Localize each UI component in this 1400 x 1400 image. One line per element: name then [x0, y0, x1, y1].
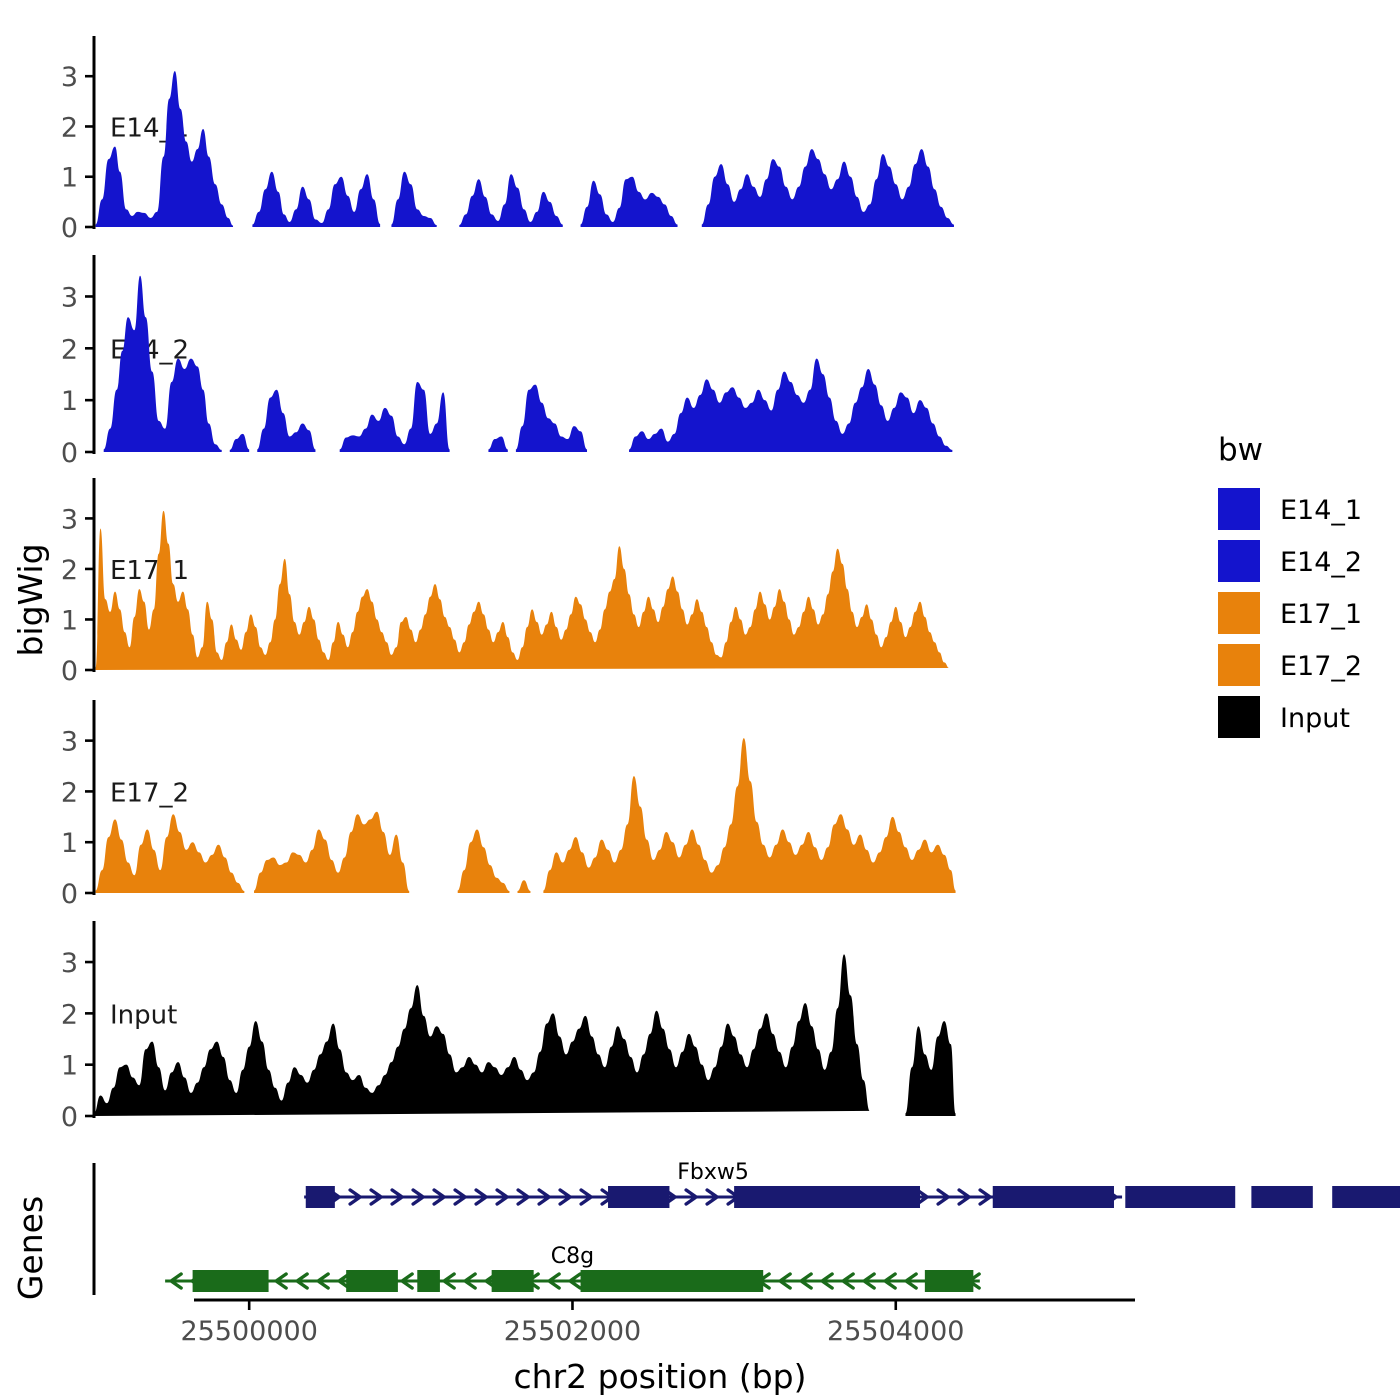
- track-label-E17_1: E17_1: [110, 556, 189, 586]
- y-tick-label: 3: [61, 948, 78, 979]
- legend-label-E14_2: E14_2: [1280, 547, 1362, 578]
- x-tick-label: 25500000: [180, 1316, 317, 1347]
- legend-swatch-E14_2[interactable]: [1218, 540, 1260, 582]
- gene-exon: [193, 1270, 269, 1292]
- x-tick-label: 25504000: [827, 1316, 964, 1347]
- y-tick-label: 1: [61, 1051, 78, 1082]
- x-axis-title: chr2 position (bp): [514, 1357, 807, 1396]
- gene-exon: [1332, 1186, 1400, 1208]
- gene-label-Fbxw5: Fbxw5: [677, 1160, 749, 1185]
- y-tick-label: 1: [61, 605, 78, 636]
- y-tick-label: 0: [61, 213, 78, 244]
- gene-exon: [925, 1270, 973, 1292]
- y-tick-label: 0: [61, 656, 78, 687]
- track-label-E17_2: E17_2: [110, 778, 189, 808]
- gene-exon: [608, 1186, 669, 1208]
- gene-exon: [993, 1186, 1114, 1208]
- legend-label-E17_1: E17_1: [1280, 599, 1362, 630]
- y-tick-label: 3: [61, 282, 78, 313]
- genes-axis-title: Genes: [11, 1196, 50, 1300]
- y-tick-label: 3: [61, 727, 78, 758]
- y-tick-label: 2: [61, 777, 78, 808]
- y-tick-label: 0: [61, 879, 78, 910]
- y-tick-label: 2: [61, 334, 78, 365]
- legend-swatch-E17_1[interactable]: [1218, 592, 1260, 634]
- gene-exon: [581, 1270, 764, 1292]
- y-tick-label: 1: [61, 163, 78, 194]
- gene-exon: [1125, 1186, 1235, 1208]
- legend-label-E17_2: E17_2: [1280, 651, 1362, 682]
- gene-exon: [306, 1186, 335, 1208]
- y-tick-label: 2: [61, 555, 78, 586]
- legend-label-E14_1: E14_1: [1280, 495, 1362, 526]
- legend-title: bw: [1218, 432, 1263, 468]
- figure-root: bigWig Genes chr2 position (bp) 0123E14_…: [0, 0, 1400, 1400]
- gene-exon: [734, 1186, 920, 1208]
- gene-exon: [346, 1270, 398, 1292]
- y-tick-label: 3: [61, 62, 78, 93]
- track-label-Input: Input: [110, 1000, 177, 1030]
- legend-swatch-E14_1[interactable]: [1218, 488, 1260, 530]
- x-tick-label: 25502000: [504, 1316, 641, 1347]
- genome-browser-figure: bigWig Genes chr2 position (bp) 0123E14_…: [0, 0, 1400, 1400]
- y-tick-label: 1: [61, 828, 78, 859]
- gene-exon: [417, 1270, 440, 1292]
- y-axis-title: bigWig: [11, 543, 50, 656]
- y-tick-label: 1: [61, 386, 78, 417]
- y-tick-label: 3: [61, 504, 78, 535]
- legend-label-Input: Input: [1280, 703, 1350, 734]
- legend-swatch-Input[interactable]: [1218, 696, 1260, 738]
- gene-exon: [492, 1270, 534, 1292]
- y-tick-label: 2: [61, 112, 78, 143]
- y-tick-label: 0: [61, 1102, 78, 1133]
- legend-swatch-E17_2[interactable]: [1218, 644, 1260, 686]
- y-tick-label: 0: [61, 438, 78, 469]
- gene-label-C8g: C8g: [551, 1244, 594, 1269]
- y-tick-label: 2: [61, 999, 78, 1030]
- gene-exon: [1251, 1186, 1312, 1208]
